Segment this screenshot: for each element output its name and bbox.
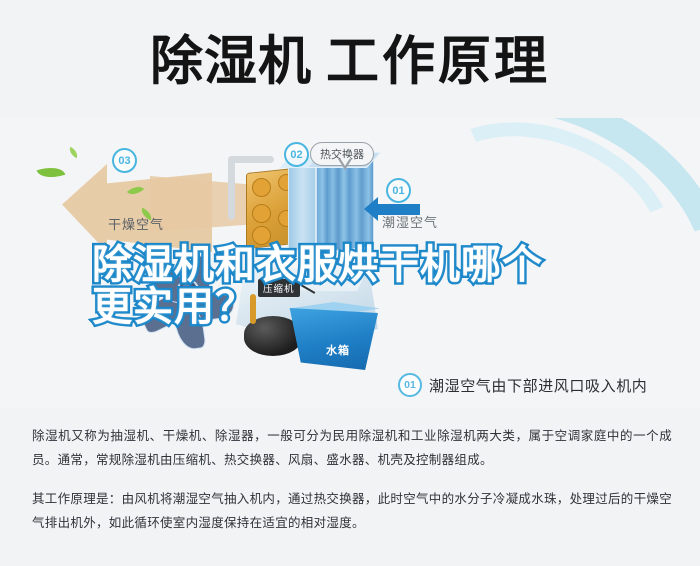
body-copy: 除湿机又称为抽湿机、干燥机、除湿器，一般可分为民用除湿机和工业除湿机两大类，属于… bbox=[32, 424, 672, 536]
leaf-icon bbox=[37, 162, 66, 182]
poster-root: 除湿机工作原理 bbox=[0, 0, 700, 566]
overlay-headline: 除湿机和衣服烘干机哪个 更实用？ bbox=[92, 244, 612, 329]
air-inlet-arrowhead-icon bbox=[364, 197, 378, 221]
dehumidifier-diagram: 压缩机 水箱 03 干燥空气 02 热交换器 01 潮湿空气 01 潮湿空气由下… bbox=[0, 118, 700, 408]
title-part1: 除湿机 bbox=[150, 32, 312, 91]
legend-text-01: 潮湿空气由下部进风口吸入机内 bbox=[429, 375, 647, 396]
callout-bubble-tail-inner bbox=[340, 158, 350, 166]
evaporator-fins-secondary-icon bbox=[288, 163, 316, 252]
callout-badge-02: 02 bbox=[284, 142, 309, 167]
callout-label-humid-air: 潮湿空气 bbox=[382, 212, 438, 231]
refrigerant-pipe-icon bbox=[228, 156, 274, 163]
page-title: 除湿机工作原理 bbox=[0, 26, 700, 96]
coil-icon bbox=[252, 204, 271, 223]
overlay-line-1: 除湿机和衣服烘干机哪个 bbox=[92, 244, 612, 286]
callout-badge-01: 01 bbox=[386, 178, 411, 203]
legend-list: 01 潮湿空气由下部进风口吸入机内 02 潮湿空气经过蒸发器冷凝成水珠 03 从… bbox=[398, 373, 694, 408]
water-tank-label: 水箱 bbox=[326, 342, 350, 358]
callout-label-dry-air: 干燥空气 bbox=[108, 214, 164, 233]
title-part2: 工作原理 bbox=[326, 32, 550, 91]
title-text: 除湿机工作原理 bbox=[150, 35, 550, 88]
callout-badge-03: 03 bbox=[112, 148, 137, 173]
leaf-icon bbox=[67, 147, 80, 159]
legend-badge-01: 01 bbox=[398, 373, 422, 397]
body-paragraph-1: 除湿机又称为抽湿机、干燥机、除湿器，一般可分为民用除湿机和工业除湿机两大类，属于… bbox=[32, 424, 672, 473]
legend-item: 01 潮湿空气由下部进风口吸入机内 bbox=[398, 373, 694, 397]
overlay-line-2: 更实用？ bbox=[92, 286, 612, 328]
body-paragraph-2: 其工作原理是：由风机将潮湿空气抽入机内，通过热交换器，此时空气中的水分子冷凝成水… bbox=[32, 487, 672, 536]
coil-icon bbox=[252, 178, 271, 197]
refrigerant-pipe-icon bbox=[228, 158, 235, 220]
paragraph-spacer bbox=[32, 473, 672, 487]
